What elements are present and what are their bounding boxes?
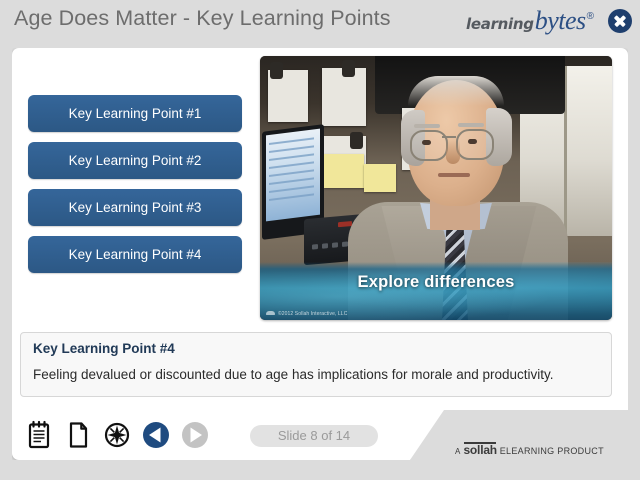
banner-suffix: ELEARNING PRODUCT: [500, 446, 604, 456]
slide-indicator: Slide 8 of 14: [250, 425, 378, 447]
sollah-mark-icon: [266, 311, 275, 315]
banner-prefix: A: [455, 447, 461, 456]
video-clip: [270, 62, 283, 79]
header: Age Does Matter - Key Learning Points le…: [0, 0, 640, 48]
close-icon[interactable]: [608, 9, 632, 33]
key-learning-point-button-1[interactable]: Key Learning Point #1: [28, 95, 242, 132]
document-icon[interactable]: [61, 418, 95, 452]
presenter-eye-right: [468, 139, 477, 144]
compass-icon[interactable]: [100, 418, 134, 452]
previous-icon[interactable]: [139, 418, 173, 452]
video-player[interactable]: Explore differences ©2012 Sollah Interac…: [260, 56, 612, 320]
banner-brand: sollah: [463, 443, 496, 457]
presenter-mouth: [438, 173, 470, 177]
key-learning-point-button-4[interactable]: Key Learning Point #4: [28, 236, 242, 273]
key-learning-point-detail: Key Learning Point #4 Feeling devalued o…: [20, 332, 612, 397]
learning-bytes-logo: learning bytes ®: [466, 6, 594, 36]
banner-brand-text: sollah: [463, 443, 496, 457]
key-learning-point-list: Key Learning Point #1 Key Learning Point…: [28, 95, 242, 283]
next-icon: [178, 418, 212, 452]
presenter-brow-left: [414, 124, 440, 128]
key-learning-point-button-3[interactable]: Key Learning Point #3: [28, 189, 242, 226]
presenter-glasses-right: [456, 129, 494, 160]
video-copyright: ©2012 Sollah Interactive, LLC: [266, 311, 347, 317]
video-monitor-screen: [266, 129, 320, 222]
key-learning-point-button-2[interactable]: Key Learning Point #2: [28, 142, 242, 179]
presenter-glasses-left: [410, 130, 448, 161]
content-card: Key Learning Point #1 Key Learning Point…: [12, 48, 628, 460]
presenter-hair-top: [408, 76, 504, 106]
logo-text-learning: learning: [466, 15, 534, 33]
detail-body: Feeling devalued or discounted due to ag…: [33, 367, 599, 382]
elearning-player: Age Does Matter - Key Learning Points le…: [0, 0, 640, 480]
player-toolbar: [22, 410, 217, 460]
page-title: Age Does Matter - Key Learning Points: [14, 6, 391, 31]
video-caption-text: Explore differences: [260, 262, 612, 302]
presenter-glasses-bridge: [442, 136, 456, 138]
notepad-icon[interactable]: [22, 418, 56, 452]
presenter-eye-left: [422, 140, 431, 145]
detail-title: Key Learning Point #4: [33, 341, 175, 356]
presenter-brow-right: [458, 123, 484, 127]
registered-trademark-icon: ®: [587, 11, 594, 22]
sollah-product-banner: A sollah ELEARNING PRODUCT: [455, 443, 604, 457]
logo-text-bytes: bytes: [535, 6, 586, 36]
video-copyright-text: ©2012 Sollah Interactive, LLC: [278, 311, 347, 317]
presenter-nose: [446, 140, 460, 164]
